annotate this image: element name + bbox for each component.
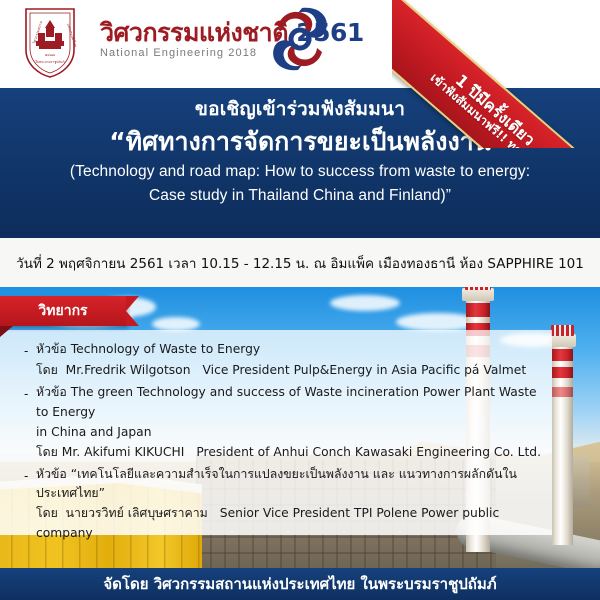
date-venue-text: วันที่ 2 พฤศจิกายน 2561 เวลา 10.15 - 12.… (16, 252, 584, 274)
svg-text:๒๔๘๗: ๒๔๘๗ (45, 53, 55, 57)
speaker-byline: โดย Mr.Fredrik WilgotsonVice President P… (24, 361, 544, 381)
chimney-band (552, 349, 573, 361)
speaker-name: นายวรวิทย์ เลิศบุษศราคาม (66, 506, 208, 520)
date-venue-band: วันที่ 2 พฤศจิกายน 2561 เวลา 10.15 - 12.… (0, 238, 600, 287)
speaker-byline: โดย นายวรวิทย์ เลิศบุษศราคามSenior Vice … (24, 504, 544, 544)
title-panel: ขอเชิญเข้าร่วมฟังสัมมนา “ทิศทางการจัดการ… (0, 88, 600, 238)
speaker-topic: หัวข้อ The green Technology and success … (36, 383, 544, 423)
speaker-name: Mr. Akifumi KIKUCHI (62, 445, 185, 459)
blue-red-swoosh-logo-icon (268, 4, 332, 74)
chimney-cap (462, 288, 494, 301)
cloud-shape (152, 317, 200, 331)
speaker-tag-label: วิทยากร (38, 300, 87, 322)
seminar-poster: วิศวกรรมสถาน แห่งประเทศไทย ๒๔๘๗ ในพระบรม… (0, 0, 600, 600)
speaker-byline: โดย Mr. Akifumi KIKUCHIPresident of Anhu… (24, 443, 544, 463)
list-item: - หัวข้อ The green Technology and succes… (24, 383, 544, 463)
invite-text: ขอเชิญเข้าร่วมฟังสัมมนา (0, 98, 600, 122)
tag-notch-shape (126, 296, 139, 326)
list-item: - หัวข้อ Technology of Waste to Energy โ… (24, 340, 544, 381)
tag-fold-shape (0, 326, 13, 337)
bullet-dash: - (24, 465, 36, 486)
list-item: - หัวข้อ “เทคโนโลยีและความสำเร็จในการแปล… (24, 465, 544, 545)
seminar-subtitle-line1: (Technology and road map: How to success… (0, 160, 600, 183)
by-label: โดย (36, 363, 58, 377)
chimney-band (552, 367, 573, 378)
footer-organizer-text: จัดโดย วิศวกรรมสถานแห่งประเทศไทย ในพระบร… (103, 572, 496, 596)
speaker-role: President of Anhui Conch Kawasaki Engine… (184, 445, 541, 459)
speaker-section-tag: วิทยากร (0, 296, 126, 326)
speaker-role: Vice President Pulp&Energy in Asia Pacif… (191, 363, 527, 377)
cloud-shape (330, 295, 400, 311)
by-label: โดย (36, 445, 58, 459)
speaker-topic: หัวข้อ “เทคโนโลยีและความสำเร็จในการแปลงข… (36, 465, 544, 505)
chimney-band (466, 303, 490, 317)
seminar-title-thai: “ทิศทางการจัดการขยะเป็นพลังงาน (0, 126, 600, 159)
svg-text:ในพระบรมราชูปถัมภ์: ในพระบรมราชูปถัมภ์ (36, 60, 65, 64)
by-label: โดย (36, 506, 58, 520)
speaker-name: Mr.Fredrik Wilgotson (66, 363, 191, 377)
speaker-list: - หัวข้อ Technology of Waste to Energy โ… (24, 340, 544, 546)
speaker-topic: หัวข้อ Technology of Waste to Energy (36, 340, 260, 360)
seminar-subtitle-line2: Case study in Thailand China and Finland… (0, 184, 600, 207)
chimney-stack-short (552, 345, 573, 545)
eit-shield-crest-icon: วิศวกรรมสถาน แห่งประเทศไทย ๒๔๘๗ ในพระบรม… (22, 6, 78, 80)
bullet-dash: - (24, 383, 36, 404)
footer-bar: จัดโดย วิศวกรรมสถานแห่งประเทศไทย ในพระบร… (0, 568, 600, 600)
chimney-cap (549, 334, 577, 347)
bullet-dash: - (24, 340, 36, 361)
speaker-topic-continued: in China and Japan (24, 423, 544, 443)
header-bar: วิศวกรรมสถาน แห่งประเทศไทย ๒๔๘๗ ในพระบรม… (0, 0, 600, 88)
chimney-band (552, 387, 573, 397)
